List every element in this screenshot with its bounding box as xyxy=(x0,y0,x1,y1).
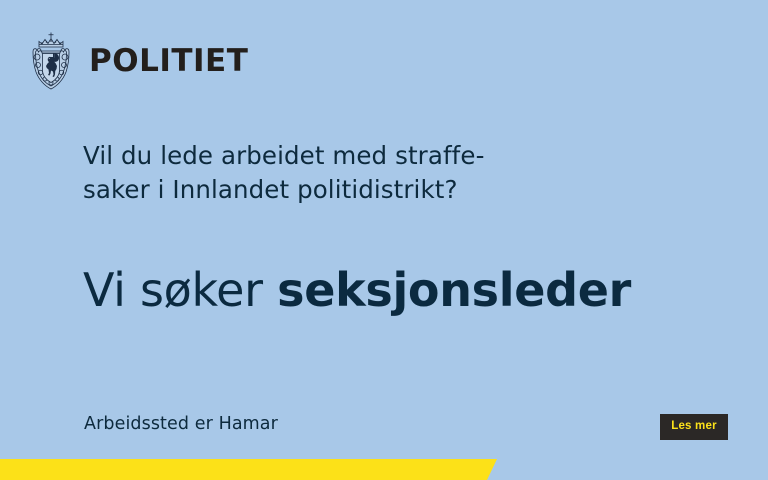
recruitment-banner: POLITIET Vil du lede arbeidet med straff… xyxy=(0,0,768,480)
les-mer-button-label: Les mer xyxy=(671,421,717,433)
lead-question: Vil du lede arbeidet med straffe- saker … xyxy=(83,139,603,207)
yellow-accent-band xyxy=(0,459,500,480)
headline: Vi søker seksjonsleder xyxy=(83,264,631,316)
headline-strong-part: seksjonsleder xyxy=(277,263,631,317)
workplace-location: Arbeidssted er Hamar xyxy=(84,412,278,436)
headline-light-part: Vi søker xyxy=(83,263,277,317)
politiet-logo[interactable]: POLITIET xyxy=(26,31,248,91)
lead-question-line-1: Vil du lede arbeidet med straffe- xyxy=(83,139,603,173)
lead-question-line-2: saker i Innlandet politidistrikt? xyxy=(83,173,603,207)
norwegian-coat-of-arms-icon xyxy=(26,31,76,91)
les-mer-button[interactable]: Les mer xyxy=(660,414,728,440)
politiet-wordmark: POLITIET xyxy=(89,46,248,77)
